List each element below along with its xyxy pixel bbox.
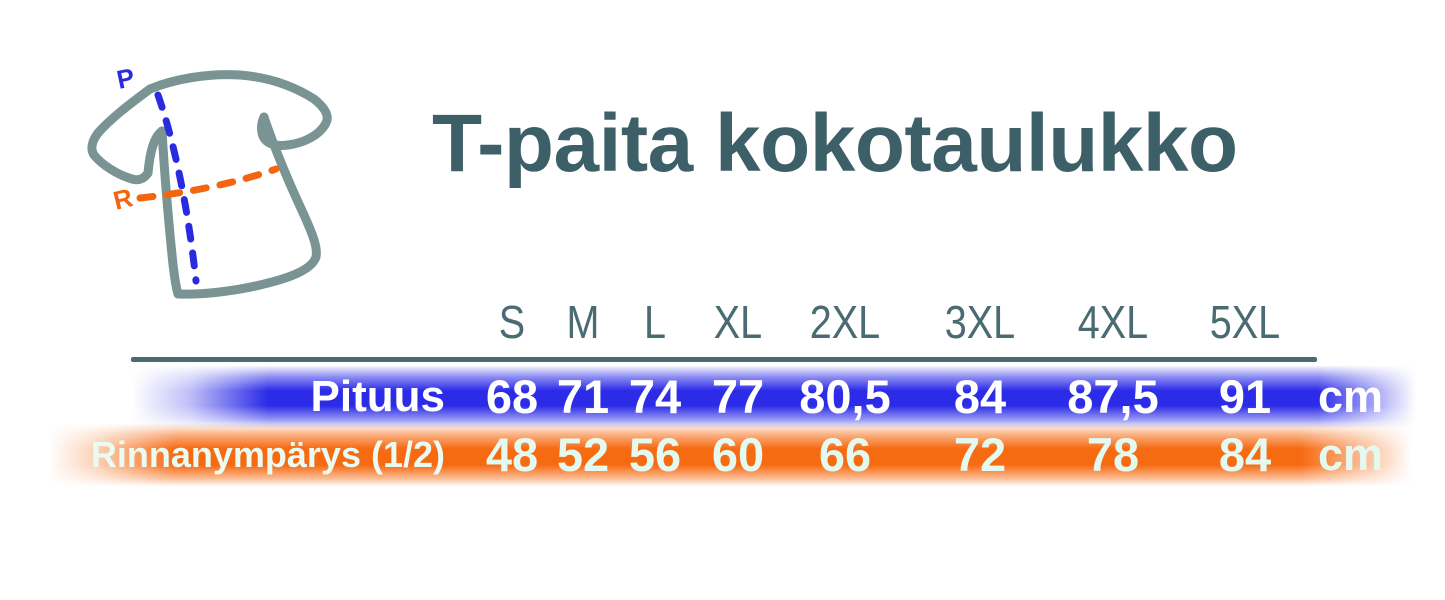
measurement-value: 72 [910, 424, 1050, 486]
measurement-unit: cm [1318, 424, 1383, 486]
size-header-cell: 2XL [793, 296, 896, 348]
t-shirt-sketch: P R [78, 55, 348, 305]
length-row-label: Pituus [311, 366, 445, 428]
chest-row: Rinnanympärys (1/2) 4852566066727884cm [0, 424, 1445, 486]
measurement-value: 80,5 [775, 366, 915, 428]
measurement-value: 87,5 [1043, 366, 1183, 428]
size-header-cell: XL [686, 296, 789, 348]
chest-row-label: Rinnanympärys (1/2) [91, 424, 445, 486]
page-title: T-paita kokotaulukko [432, 96, 1372, 192]
measurement-value: 91 [1175, 366, 1315, 428]
measurement-value: 78 [1043, 424, 1183, 486]
size-header-cell: 3XL [928, 296, 1031, 348]
size-header-cell: 4XL [1061, 296, 1164, 348]
length-marker-label: P [114, 62, 137, 95]
length-row: Pituus 6871747780,58487,591cm [0, 366, 1445, 428]
t-shirt-sketch-svg: P R [78, 55, 348, 305]
chest-marker-label: R [110, 182, 136, 216]
measurement-value: 84 [910, 366, 1050, 428]
size-header-row: SMLXL2XL3XL4XL5XL [460, 296, 1320, 348]
measurement-value: 84 [1175, 424, 1315, 486]
measurement-value: 66 [775, 424, 915, 486]
measurement-unit: cm [1318, 366, 1383, 428]
size-chart-canvas: P R T-paita kokotaulukko SMLXL2XL3XL4XL5… [0, 0, 1445, 600]
size-header-cell: 5XL [1193, 296, 1296, 348]
header-divider [131, 357, 1317, 362]
